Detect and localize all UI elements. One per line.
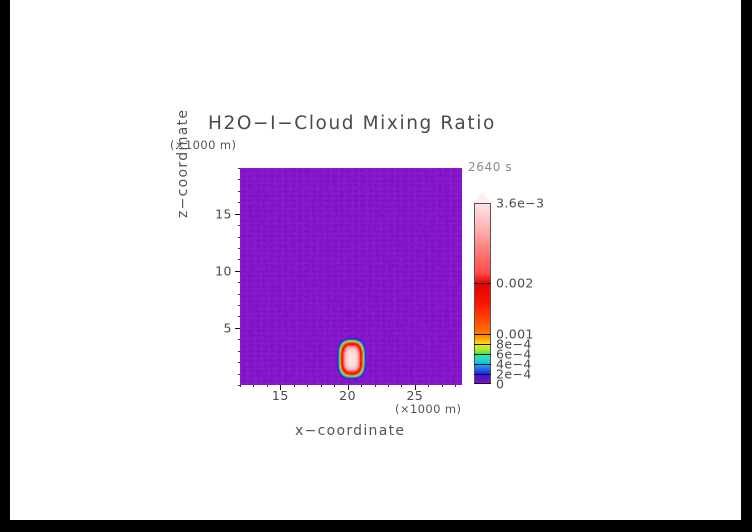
colorbar-tick-labels: 3.6e−30.0020.0018e−46e−44e−42e−40 [474,203,564,384]
y-axis-minor-tick [238,339,240,340]
y-axis-major-tick [235,214,240,215]
y-axis-minor-tick [238,316,240,317]
x-axis-minor-tick [294,385,295,387]
x-axis-minor-tick [455,385,456,387]
y-axis-label: z−coordinate [175,109,191,218]
y-axis-minor-tick [238,259,240,260]
y-axis-minor-tick [238,294,240,295]
x-axis-minor-tick [334,385,335,387]
timestamp-label: 2640 s [468,160,512,174]
y-axis-minor-tick [238,225,240,226]
x-axis-minor-tick [307,385,308,387]
x-axis-minor-tick [361,385,362,387]
colorbar-tick-label: 0 [496,377,504,392]
y-axis-minor-tick [238,237,240,238]
x-axis-label: x−coordinate [295,423,405,439]
x-axis-minor-tick [240,385,241,387]
x-axis-minor-tick [321,385,322,387]
colorbar-tick-label: 3.6e−3 [496,196,544,211]
y-axis-minor-tick [238,362,240,363]
x-axis-minor-tick [375,385,376,387]
y-tick-label-group: 51015 [200,0,232,532]
colorbar-over-arrow-icon [473,192,491,203]
y-axis-minor-tick [238,191,240,192]
x-axis-minor-tick [401,385,402,387]
y-axis-minor-tick [238,282,240,283]
y-axis-minor-tick [238,202,240,203]
contour-field-canvas [240,168,462,385]
x-tick-label: 20 [339,388,356,403]
x-axis-unit-label: (×1000 m) [395,402,461,416]
y-axis-major-tick [235,328,240,329]
x-axis-minor-tick [253,385,254,387]
y-axis-minor-tick [238,305,240,306]
y-tick-label: 5 [224,320,232,335]
figure-canvas: H2O−I−Cloud Mixing Ratio (×1000 m) 2640 … [10,0,741,520]
x-axis-minor-tick [267,385,268,387]
y-axis-major-tick [235,271,240,272]
contour-plot-area [240,168,462,385]
page-title: H2O−I−Cloud Mixing Ratio [208,113,508,134]
y-axis-minor-tick [238,374,240,375]
x-axis-minor-tick [388,385,389,387]
x-tick-label: 15 [272,388,289,403]
y-axis-minor-tick [238,168,240,169]
y-tick-label: 15 [215,206,232,221]
x-axis-minor-tick [442,385,443,387]
y-tick-label: 10 [215,263,232,278]
y-axis-minor-tick [238,385,240,386]
y-axis-minor-tick [238,248,240,249]
figure-page: H2O−I−Cloud Mixing Ratio (×1000 m) 2640 … [0,0,752,532]
colorbar-tick-label: 0.002 [496,276,534,291]
x-tick-label: 25 [406,388,423,403]
y-axis-minor-tick [238,179,240,180]
x-axis-minor-tick [428,385,429,387]
y-axis-minor-tick [238,351,240,352]
